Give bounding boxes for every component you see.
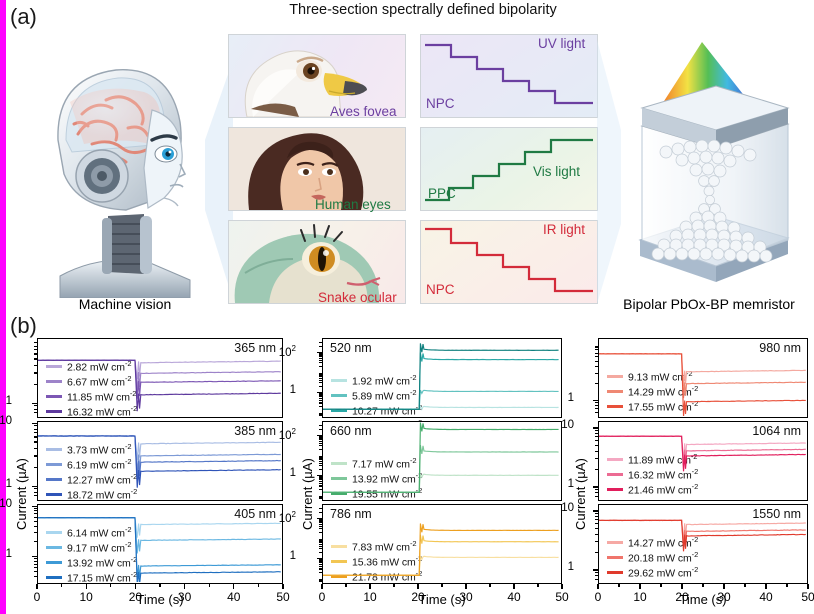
y-minor-tick (595, 436, 598, 437)
y-minor-tick (595, 440, 598, 441)
y-minor-tick (34, 558, 37, 559)
x-tick-label: 10 (72, 590, 100, 604)
y-tick-label: 1 (0, 478, 12, 490)
y-minor-tick (319, 560, 322, 561)
y-minor-tick (319, 354, 322, 355)
y-minor-tick (319, 362, 322, 363)
y-minor-tick (319, 572, 322, 573)
y-minor-tick (34, 571, 37, 572)
x-tick-mark (681, 584, 682, 589)
chart-panel-1550-nm: 1550 nm14.27 mW cm-220.18 mW cm-229.62 m… (598, 504, 808, 584)
y-minor-tick (595, 373, 598, 374)
y-tick-label: 1 (272, 467, 296, 479)
y-minor-tick (319, 394, 322, 395)
y-minor-tick (595, 534, 598, 535)
x-tick-label: 20 (668, 590, 696, 604)
y-minor-tick (319, 528, 322, 529)
y-tick-label: 10 (552, 502, 574, 514)
y-minor-tick (319, 520, 322, 521)
x-tick-mark (86, 584, 87, 589)
y-minor-tick (319, 541, 322, 542)
trace (38, 436, 281, 460)
y-minor-tick (34, 353, 37, 354)
y-minor-tick (319, 406, 322, 407)
y-minor-tick (34, 429, 37, 430)
y-minor-tick (319, 476, 322, 477)
y-minor-tick (34, 541, 37, 542)
y-minor-tick (319, 469, 322, 470)
memristor-device-illustration (620, 30, 800, 298)
y-minor-tick (34, 513, 37, 514)
y-minor-tick (34, 517, 37, 518)
y-minor-tick (319, 539, 322, 540)
y-minor-tick (34, 455, 37, 456)
machine-vision-label: Machine vision (40, 296, 210, 312)
x-tick-mark (465, 584, 466, 589)
y-minor-tick (595, 492, 598, 493)
y-minor-tick (319, 398, 322, 399)
y-minor-tick (595, 405, 598, 406)
y-minor-tick (319, 519, 322, 520)
trace (323, 556, 559, 575)
y-minor-tick (595, 445, 598, 446)
y-minor-tick (319, 445, 322, 446)
trace (599, 436, 806, 471)
y-minor-tick (595, 433, 598, 434)
y-minor-tick (319, 402, 322, 403)
x-minor-tick (209, 584, 210, 587)
x-tick-label: 0 (308, 590, 336, 604)
y-minor-tick (319, 458, 322, 459)
y-tick-label: 1 (552, 478, 574, 490)
y-minor-tick (595, 366, 598, 367)
y-minor-tick (34, 384, 37, 385)
x-minor-tick (345, 584, 346, 587)
x-minor-tick (702, 584, 703, 587)
y-minor-tick (319, 376, 322, 377)
x-tick-label: 50 (794, 590, 814, 604)
y-tick-mark (32, 423, 37, 424)
y-minor-tick (319, 522, 322, 523)
trace (599, 354, 806, 416)
x-tick-label: 40 (752, 590, 780, 604)
y-minor-tick (595, 489, 598, 490)
y-minor-tick (319, 564, 322, 565)
y-minor-tick (319, 478, 322, 479)
x-tick-label: 30 (710, 590, 738, 604)
y-tick-mark (32, 403, 37, 404)
y-minor-tick (34, 358, 37, 359)
y-minor-tick (34, 508, 37, 509)
trace (38, 436, 281, 472)
y-tick-label: 1 (0, 548, 12, 560)
y-minor-tick (595, 361, 598, 362)
trace (323, 353, 559, 410)
y-minor-tick (319, 342, 322, 343)
y-minor-tick (319, 459, 322, 460)
y-tick-label: 10 (552, 419, 574, 431)
trace (38, 518, 281, 538)
y-minor-tick (34, 409, 37, 410)
x-tick-label: 40 (500, 590, 528, 604)
trace (38, 360, 281, 379)
y-minor-tick (595, 496, 598, 497)
chart-traces (323, 505, 560, 582)
x-minor-tick (489, 584, 490, 587)
y-minor-tick (319, 526, 322, 527)
trace (323, 535, 559, 575)
chart-traces (38, 339, 281, 416)
y-minor-tick (34, 432, 37, 433)
y-minor-tick (319, 546, 322, 547)
y-minor-tick (319, 580, 322, 581)
machine-vision-robot-illustration (40, 48, 210, 298)
y-minor-tick (34, 441, 37, 442)
y-tick-label: 1 (552, 561, 574, 573)
y-minor-tick (34, 561, 37, 562)
y-minor-tick (34, 349, 37, 350)
x-tick-mark (321, 584, 322, 589)
y-minor-tick (319, 382, 322, 383)
y-minor-tick (595, 523, 598, 524)
y-minor-tick (34, 342, 37, 343)
y-minor-tick (319, 561, 322, 562)
y-minor-tick (319, 512, 322, 513)
trace (323, 343, 559, 409)
y-tick-label: 1 (552, 392, 574, 404)
x-tick-mark (282, 584, 283, 589)
y-minor-tick (319, 457, 322, 458)
y-minor-tick (319, 378, 322, 379)
y-tick-mark (32, 506, 37, 507)
chart-panel-405-nm: 405 nm6.14 mW cm-29.17 mW cm-213.92 mW c… (37, 504, 283, 584)
x-tick-label: 10 (626, 590, 654, 604)
y-minor-tick (319, 395, 322, 396)
x-minor-tick (786, 584, 787, 587)
y-minor-tick (319, 566, 322, 567)
y-minor-tick (595, 528, 598, 529)
y-minor-tick (319, 562, 322, 563)
y-axis-label-col2: Current (µA) (573, 458, 588, 530)
x-tick-mark (36, 584, 37, 589)
trace (323, 423, 559, 493)
chart-panel-385-nm: 385 nm3.73 mW cm-26.19 mW cm-212.27 mW c… (37, 421, 283, 501)
y-minor-tick (319, 532, 322, 533)
x-minor-tick (660, 584, 661, 587)
y-minor-tick (595, 346, 598, 347)
y-tick-mark (32, 486, 37, 487)
y-minor-tick (319, 393, 322, 394)
y-minor-tick (319, 485, 322, 486)
x-minor-tick (441, 584, 442, 587)
y-minor-tick (34, 365, 37, 366)
x-tick-mark (597, 584, 598, 589)
chart-panel-365-nm: 365 nm2.82 mW cm-26.67 mW cm-211.85 mW c… (37, 338, 283, 418)
trace (323, 390, 559, 409)
x-tick-mark (765, 584, 766, 589)
y-minor-tick (595, 519, 598, 520)
x-minor-tick (393, 584, 394, 587)
x-tick-mark (513, 584, 514, 589)
y-minor-tick (34, 448, 37, 449)
y-minor-tick (319, 579, 322, 580)
trace (599, 436, 806, 460)
y-minor-tick (595, 458, 598, 459)
y-tick-label: 102 (272, 510, 296, 525)
y-minor-tick (595, 430, 598, 431)
y-minor-tick (319, 552, 322, 553)
y-minor-tick (34, 532, 37, 533)
trace (599, 436, 806, 466)
y-minor-tick (34, 467, 37, 468)
y-minor-tick (319, 374, 322, 375)
y-minor-tick (319, 544, 322, 545)
y-tick-label: 102 (272, 427, 296, 442)
x-minor-tick (61, 584, 62, 587)
x-tick-label: 40 (220, 590, 248, 604)
y-minor-tick (319, 358, 322, 359)
y-minor-tick (319, 396, 322, 397)
x-tick-mark (639, 584, 640, 589)
y-minor-tick (319, 353, 322, 354)
trace (323, 445, 559, 492)
panel-label-b: (b) (10, 313, 37, 339)
y-minor-tick (319, 497, 322, 498)
y-minor-tick (595, 451, 598, 452)
y-minor-tick (319, 429, 322, 430)
y-minor-tick (319, 463, 322, 464)
chart-traces (323, 339, 560, 416)
y-minor-tick (319, 425, 322, 426)
x-tick-label: 30 (171, 590, 199, 604)
y-minor-tick (319, 386, 322, 387)
x-tick-label: 0 (584, 590, 612, 604)
y-minor-tick (595, 469, 598, 470)
chart-panel-660-nm: 660 nm7.17 mW cm-213.92 mW cm-219.55 mW … (322, 421, 562, 501)
y-tick-mark (593, 400, 598, 401)
y-minor-tick (34, 495, 37, 496)
x-tick-label: 0 (23, 590, 51, 604)
panel-label-a: (a) (10, 4, 37, 30)
y-minor-tick (34, 567, 37, 568)
y-minor-tick (319, 373, 322, 374)
y-minor-tick (34, 425, 37, 426)
x-minor-tick (258, 584, 259, 587)
chart-traces (38, 505, 281, 582)
y-minor-tick (319, 415, 322, 416)
y-minor-tick (595, 541, 598, 542)
y-minor-tick (319, 521, 322, 522)
y-minor-tick (319, 441, 322, 442)
y-tick-mark (593, 510, 598, 511)
y-minor-tick (319, 548, 322, 549)
y-minor-tick (319, 346, 322, 347)
y-minor-tick (319, 436, 322, 437)
y-minor-tick (34, 488, 37, 489)
y-minor-tick (34, 564, 37, 565)
y-tick-label: 102 (272, 344, 296, 359)
y-minor-tick (34, 576, 37, 577)
x-tick-mark (369, 584, 370, 589)
y-minor-tick (319, 489, 322, 490)
device-label: Bipolar PbOx-BP memristor (608, 296, 810, 312)
y-minor-tick (595, 353, 598, 354)
y-minor-tick (319, 355, 322, 356)
y-minor-tick (319, 439, 322, 440)
trace (38, 360, 281, 411)
chart-panel-980-nm: 980 nm9.13 mW cm-214.29 mW cm-217.55 mW … (598, 338, 808, 418)
y-minor-tick (319, 483, 322, 484)
x-tick-label: 50 (548, 590, 576, 604)
y-minor-tick (319, 360, 322, 361)
y-minor-tick (595, 402, 598, 403)
x-minor-tick (618, 584, 619, 587)
y-minor-tick (595, 383, 598, 384)
chart-traces (38, 422, 281, 499)
y-minor-tick (34, 436, 37, 437)
y-minor-tick (595, 575, 598, 576)
y-minor-tick (319, 449, 322, 450)
y-minor-tick (319, 581, 322, 582)
y-minor-tick (319, 540, 322, 541)
y-minor-tick (319, 443, 322, 444)
y-minor-tick (319, 508, 322, 509)
y-minor-tick (319, 400, 322, 401)
x-tick-mark (233, 584, 234, 589)
y-minor-tick (319, 524, 322, 525)
chart-traces (599, 339, 806, 416)
y-minor-tick (34, 492, 37, 493)
chart-traces (323, 422, 560, 499)
chart-traces (599, 422, 806, 499)
x-tick-mark (184, 584, 185, 589)
y-axis-label-col1: Current (µA) (300, 458, 315, 530)
left-magenta-border (0, 0, 6, 614)
y-minor-tick (595, 513, 598, 514)
y-tick-label: 10 (0, 498, 12, 510)
x-tick-label: 20 (121, 590, 149, 604)
y-minor-tick (319, 498, 322, 499)
y-minor-tick (34, 346, 37, 347)
x-tick-mark (561, 584, 562, 589)
y-minor-tick (34, 510, 37, 511)
y-minor-tick (34, 526, 37, 527)
y-minor-tick (319, 356, 322, 357)
y-tick-mark (32, 556, 37, 557)
y-minor-tick (595, 516, 598, 517)
y-minor-tick (595, 572, 598, 573)
figure-title: Three-section spectrally defined bipolar… (258, 2, 588, 18)
y-minor-tick (34, 405, 37, 406)
y-tick-label: 1 (0, 395, 12, 407)
y-tick-label: 1 (272, 384, 296, 396)
y-minor-tick (319, 479, 322, 480)
y-minor-tick (319, 481, 322, 482)
y-minor-tick (595, 412, 598, 413)
x-tick-label: 20 (404, 590, 432, 604)
y-minor-tick (319, 496, 322, 497)
y-minor-tick (595, 552, 598, 553)
y-tick-mark (593, 569, 598, 570)
x-tick-label: 10 (356, 590, 384, 604)
y-axis-label-col0: Current (µA) (14, 458, 29, 530)
chart-panel-1064-nm: 1064 nm11.89 mW cm-216.32 mW cm-221.46 m… (598, 421, 808, 501)
x-tick-mark (417, 584, 418, 589)
x-tick-mark (135, 584, 136, 589)
y-tick-label: 10 (0, 415, 12, 427)
y-minor-tick (319, 568, 322, 569)
trace (38, 518, 281, 582)
y-tick-mark (593, 486, 598, 487)
y-minor-tick (319, 438, 322, 439)
y-minor-tick (34, 372, 37, 373)
trace (38, 360, 281, 390)
y-minor-tick (595, 579, 598, 580)
y-minor-tick (595, 349, 598, 350)
y-minor-tick (319, 559, 322, 560)
trace (38, 360, 281, 399)
chart-panel-786-nm: 786 nm7.83 mW cm-215.36 mW cm-221.78 mW … (322, 504, 562, 584)
y-minor-tick (595, 408, 598, 409)
y-minor-tick (319, 465, 322, 466)
y-minor-tick (595, 356, 598, 357)
y-minor-tick (319, 542, 322, 543)
y-minor-tick (319, 366, 322, 367)
x-tick-mark (723, 584, 724, 589)
chart-traces (599, 505, 806, 582)
y-minor-tick (319, 380, 322, 381)
y-minor-tick (319, 375, 322, 376)
y-minor-tick (319, 413, 322, 414)
y-minor-tick (319, 456, 322, 457)
y-minor-tick (34, 521, 37, 522)
y-minor-tick (319, 477, 322, 478)
y-tick-label: 1 (272, 550, 296, 562)
trace (323, 474, 559, 492)
trace (599, 354, 806, 387)
y-minor-tick (34, 412, 37, 413)
x-minor-tick (744, 584, 745, 587)
x-minor-tick (110, 584, 111, 587)
x-tick-label: 50 (269, 590, 297, 604)
x-minor-tick (159, 584, 160, 587)
trace (599, 354, 806, 398)
x-tick-mark (807, 584, 808, 589)
y-minor-tick (319, 461, 322, 462)
x-minor-tick (537, 584, 538, 587)
trace (323, 523, 559, 575)
y-minor-tick (319, 437, 322, 438)
chart-panel-520-nm: 520 nm1.92 mW cm-25.89 mW cm-210.27 mW c… (322, 338, 562, 418)
trace (38, 518, 281, 580)
y-minor-tick (319, 414, 322, 415)
y-tick-mark (593, 427, 598, 428)
x-tick-label: 30 (452, 590, 480, 604)
